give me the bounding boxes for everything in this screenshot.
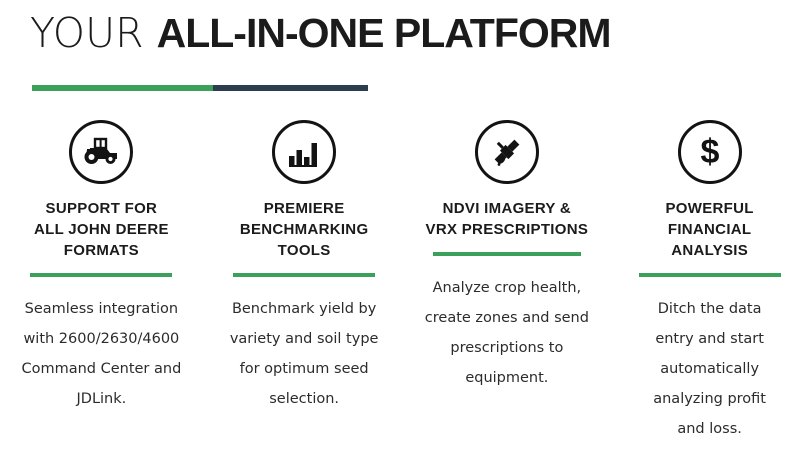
page-header: YOUR ALL-IN-ONE PLATFORM [30,8,790,58]
feature-column-financial: $ POWERFUL FINANCIAL ANALYSIS Ditch the … [608,120,811,444]
feature-grid-page: YOUR ALL-IN-ONE PLATFORM SUPPORT F [0,0,811,463]
feature-body: Seamless integration with 2600/2630/4600… [10,294,193,414]
header-divider-navy [213,85,368,91]
feature-underline [639,273,781,277]
tractor-icon [69,120,133,184]
page-title: YOUR ALL-IN-ONE PLATFORM [30,8,790,58]
feature-body: Analyze crop health, create zones and se… [417,273,597,393]
svg-text:$: $ [700,133,719,171]
feature-underline [30,273,172,277]
feature-title: POWERFUL FINANCIAL ANALYSIS [630,198,790,261]
feature-column-support: SUPPORT FOR ALL JOHN DEERE FORMATS Seaml… [0,120,203,444]
feature-title: PREMIERE BENCHMARKING TOOLS [214,198,394,261]
feature-title: NDVI IMAGERY & VRX PRESCRIPTIONS [409,198,605,240]
feature-columns: SUPPORT FOR ALL JOHN DEERE FORMATS Seaml… [0,120,811,444]
feature-column-benchmarking: PREMIERE BENCHMARKING TOOLS Benchmark yi… [203,120,406,444]
feature-underline [433,252,581,256]
feature-body: Ditch the data entry and start automatic… [640,294,780,444]
feature-body: Benchmark yield by variety and soil type… [219,294,389,414]
dollar-sign-icon: $ [678,120,742,184]
feature-title: SUPPORT FOR ALL JOHN DEERE FORMATS [9,198,194,261]
satellite-icon [475,120,539,184]
page-title-light: YOUR [30,9,157,57]
header-divider-green [32,85,213,91]
feature-column-ndvi: NDVI IMAGERY & VRX PRESCRIPTIONS Analyze… [406,120,609,444]
feature-underline [233,273,375,277]
bar-chart-icon [272,120,336,184]
header-divider [32,85,368,91]
page-title-bold: ALL-IN-ONE PLATFORM [157,10,611,56]
